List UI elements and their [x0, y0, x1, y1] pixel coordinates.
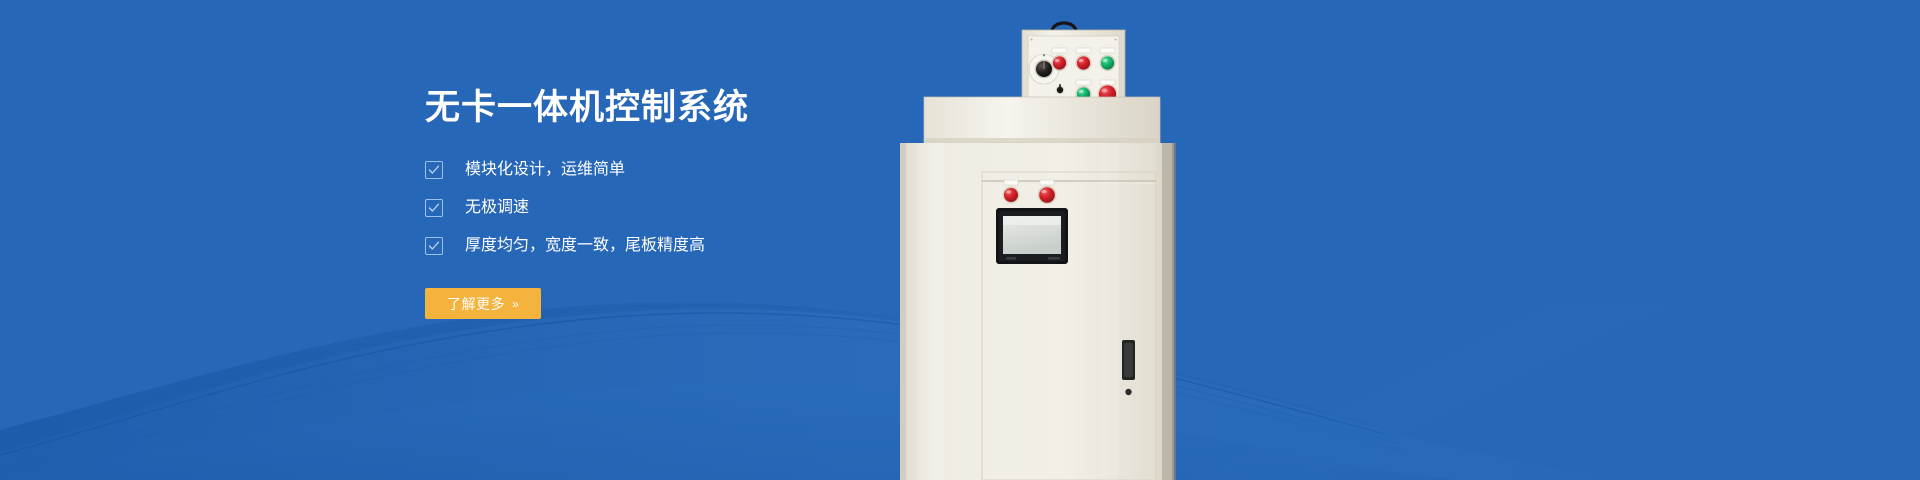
banner-content: 无卡一体机控制系统 模块化设计，运维简单 无极调速	[425, 86, 985, 319]
checkmark-icon	[425, 161, 443, 179]
feature-list: 模块化设计，运维简单 无极调速 厚度均匀，宽度一致，尾板精度高	[425, 160, 985, 256]
indicator-red-front-2	[1038, 180, 1057, 204]
learn-more-button[interactable]: 了解更多 »	[425, 288, 541, 319]
list-item: 模块化设计，运维简单	[425, 160, 985, 180]
hero-banner: 无卡一体机控制系统 模块化设计，运维简单 无极调速	[0, 0, 1920, 480]
hmi-touchscreen	[996, 208, 1068, 264]
chevron-right-icon: »	[512, 297, 519, 311]
page-title: 无卡一体机控制系统	[425, 86, 985, 130]
indicator-red-2	[1075, 48, 1091, 71]
indicator-green-1	[1099, 48, 1115, 71]
svg-text:●: ●	[1043, 53, 1046, 57]
checkmark-icon	[425, 199, 443, 217]
feature-label: 厚度均匀，宽度一致，尾板精度高	[465, 236, 705, 256]
list-item: 无极调速	[425, 198, 985, 218]
indicator-red-front-1	[1002, 180, 1019, 204]
checkmark-icon	[425, 237, 443, 255]
learn-more-label: 了解更多	[447, 294, 505, 314]
list-item: 厚度均匀，宽度一致，尾板精度高	[425, 236, 985, 256]
feature-label: 模块化设计，运维简单	[465, 160, 625, 180]
indicator-red-1	[1051, 48, 1067, 71]
feature-label: 无极调速	[465, 198, 529, 218]
